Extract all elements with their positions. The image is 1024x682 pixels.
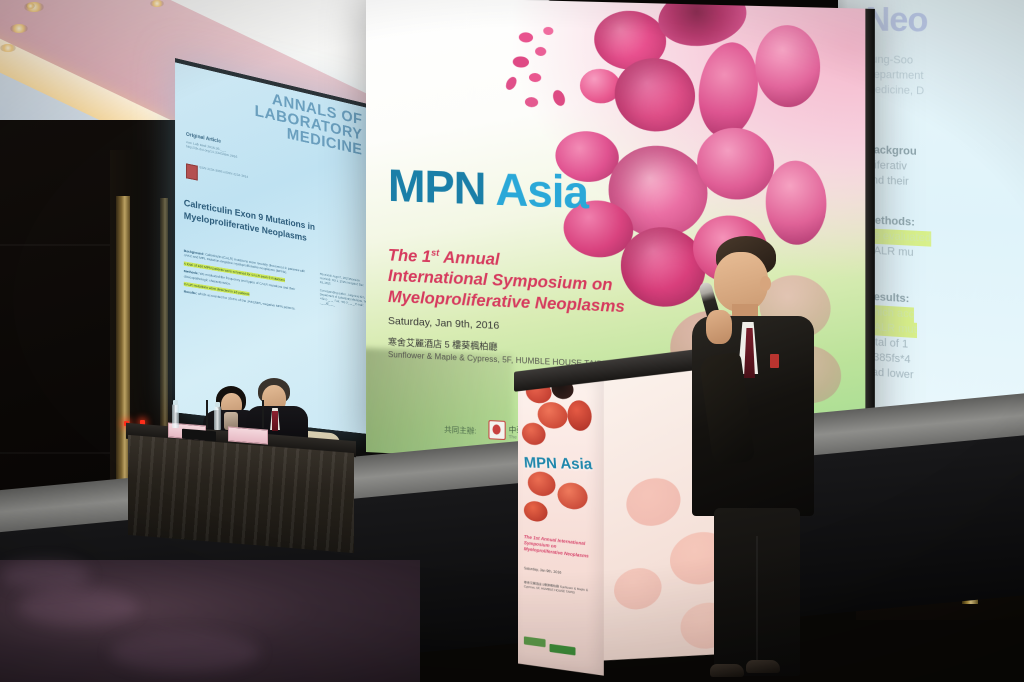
rbc-large-6 (755, 24, 820, 108)
wall-seam-1 (0, 244, 112, 246)
slide-title: Calreticulin Exon 9 Mutations in Myelopr… (184, 197, 368, 255)
name-card-right (228, 426, 268, 444)
podium-sponsor-1 (524, 636, 546, 647)
banner-subtitle: The 1st Annual International Symposium o… (388, 241, 693, 320)
podium-front-cell-4 (567, 399, 591, 431)
speaker (688, 236, 818, 668)
podium-front-cell-5 (522, 422, 546, 446)
downlight-4 (26, 3, 35, 9)
slide-abstract-body: Background: Calreticulin (CALR) mutation… (184, 249, 308, 317)
podium-subtitle: The 1st Annual International Symposium o… (524, 534, 596, 560)
speaker-trouser-seam (756, 536, 758, 661)
banner-title: MPN Asia (388, 163, 588, 216)
podium-cell-3 (614, 566, 662, 610)
podium-front-cell-3 (538, 401, 568, 430)
rbc-large-4 (615, 57, 695, 133)
conference-photo: ANNALS OF LABORATORY MEDICINE Original A… (0, 0, 1024, 682)
podium-venue: 寒舍艾麗酒店 5樓葵楓柏廳 Sunflower & Maple & Cypres… (524, 580, 596, 597)
slide-corresponding-author: Corresponding author: Jung-Soo Kim, Depa… (320, 288, 368, 312)
right-results-section: Results: which acc CALR mut total of 1 K… (866, 290, 1024, 394)
rbc-small-8 (551, 89, 567, 108)
water-bottle-1 (172, 404, 179, 428)
rbc-large-5 (693, 38, 764, 142)
speaker-shoe-left (710, 664, 744, 677)
slide-right-column: Received: Aug 17, 2015 Revision received… (320, 272, 368, 316)
issn-caption: ISSN 2234-3806 eISSN 2234-3814 (199, 165, 272, 184)
podium-front-cell-8 (524, 500, 548, 523)
speaker-hand (706, 310, 732, 344)
downlight-3 (0, 44, 16, 52)
podium-sponsor-logos (524, 636, 600, 661)
banner-sponsor-label: 共同主辦: (444, 424, 476, 437)
podium-front-cell-7 (557, 481, 587, 510)
rbc-small-2 (535, 47, 546, 56)
banner-subtitle-sup: st (431, 248, 439, 258)
banner-subtitle-line1: The 1 (388, 246, 431, 266)
sponsor-emblem-icon (488, 420, 505, 440)
rbc-small-7 (525, 97, 538, 108)
abstract-results-label: Results: (184, 290, 197, 296)
right-background-section: Backgrou eliferativ and their (866, 143, 1024, 196)
rbc-large-9 (697, 127, 774, 201)
podium-logo-text: MPN Asia (523, 454, 592, 473)
water-bottle-2 (214, 406, 221, 430)
microphone-stand-2 (262, 400, 264, 428)
panelist-male-tie (272, 411, 278, 431)
right-methods-highlight: we evaluated (866, 228, 931, 246)
journal-logo-icon (186, 163, 198, 180)
downlight-5 (150, 0, 164, 7)
podium-front-cell-6 (528, 470, 556, 497)
podium-date: Saturday, Jan 9th, 2016 (524, 566, 562, 575)
carpet-pattern-1 (18, 588, 138, 626)
rbc-large-13 (766, 160, 827, 246)
rbc-small-5 (543, 27, 553, 35)
article-meta: Ann Lab Med 2016;36:___ http://dx.doi.or… (186, 140, 276, 168)
right-methods-section: Methods: we evaluated CALR mu (866, 213, 1024, 268)
banner-subtitle-line1b: Annual (439, 248, 499, 269)
podium-cell-1 (626, 476, 680, 528)
downlight-2 (10, 24, 28, 33)
rbc-small-6 (504, 75, 519, 92)
microphone-stand-1 (206, 400, 208, 428)
podium-sponsor-2 (550, 644, 576, 656)
banner-title-asia: Asia (495, 164, 588, 219)
rbc-small-4 (529, 73, 541, 82)
speaker-shoe-right (746, 660, 780, 673)
banner-title-mpn: MPN (388, 160, 485, 215)
right-slide-title: Neo (866, 0, 928, 40)
wall-seam-2 (0, 452, 110, 454)
carpet-pattern-3 (0, 560, 90, 590)
speaker-badge (770, 354, 779, 368)
rbc-small-3 (513, 56, 529, 68)
podium-front-panel: MPN Asia The 1st Annual International Sy… (518, 373, 604, 675)
carpet-pattern-2 (110, 632, 260, 672)
speaker-ear (760, 276, 771, 291)
rbc-small-1 (519, 32, 533, 42)
banner-date: Saturday, Jan 9th, 2016 (388, 315, 499, 332)
panel-table-cloth (128, 435, 354, 553)
